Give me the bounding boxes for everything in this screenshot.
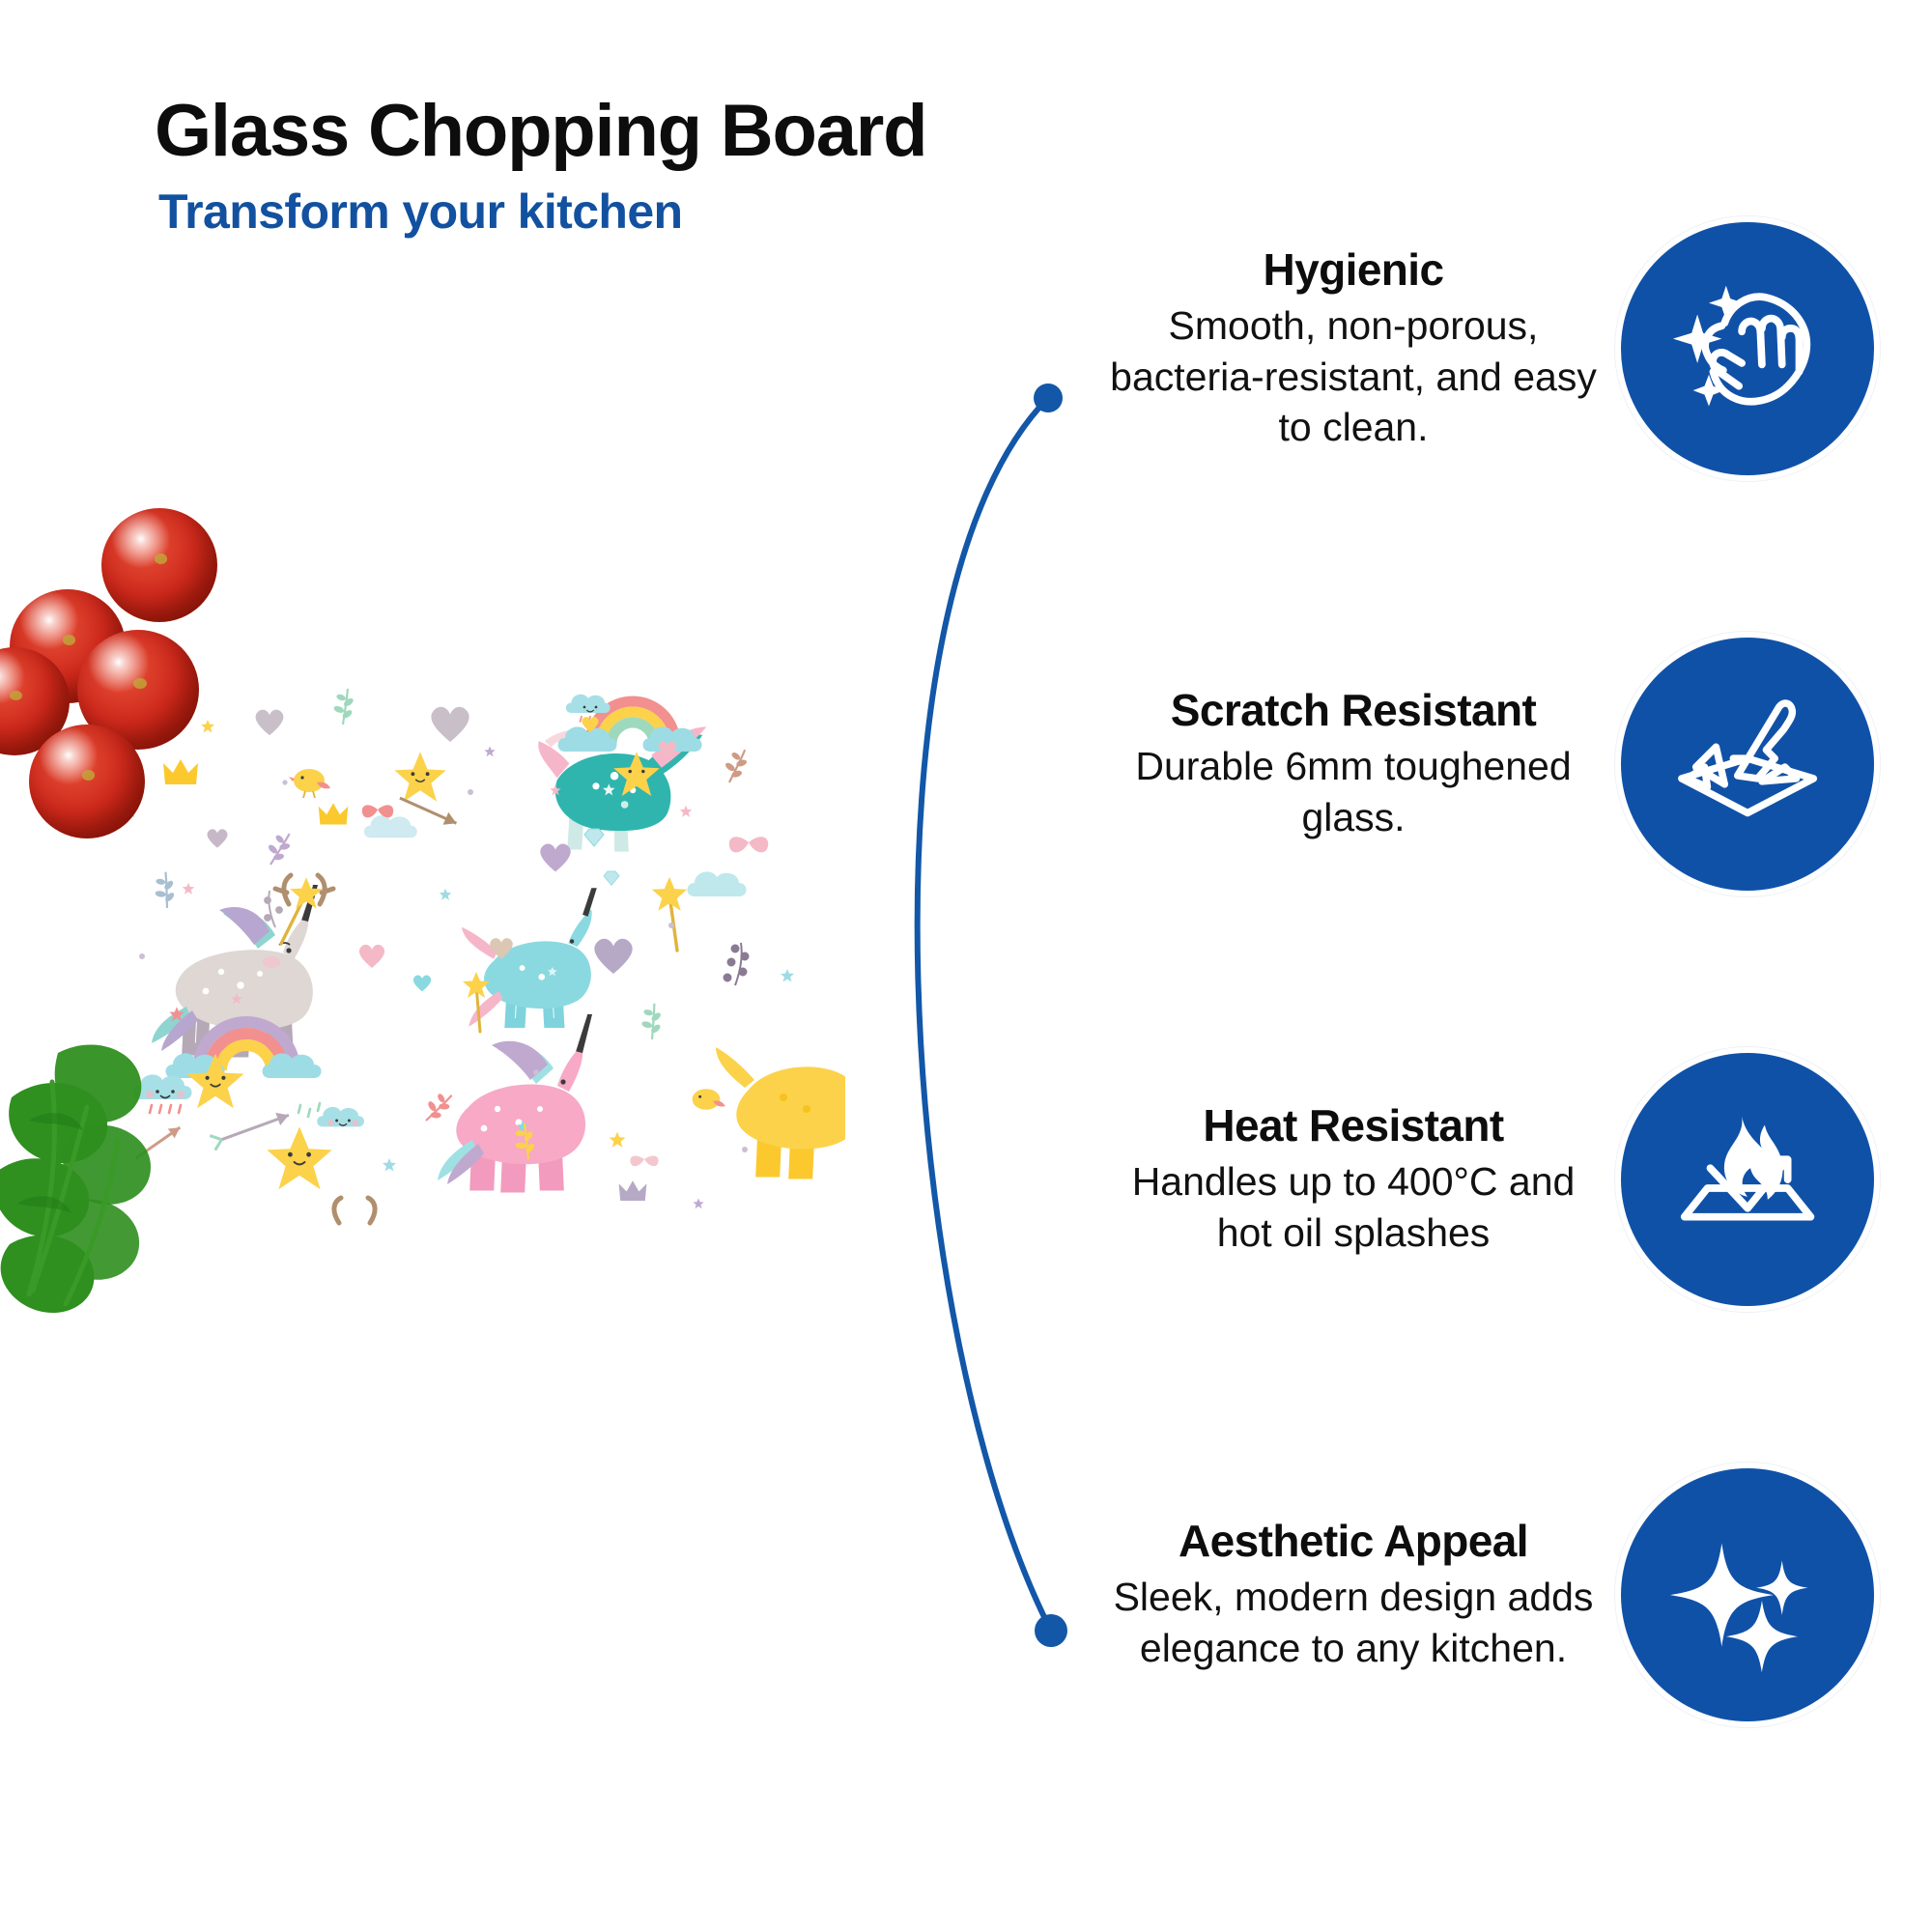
feature-text: Aesthetic Appeal Sleek, modern design ad…: [1109, 1517, 1621, 1673]
feature-description: Sleek, modern design adds elegance to an…: [1109, 1572, 1598, 1673]
parsley-garnish: [0, 1014, 309, 1333]
tomato-2: [101, 508, 217, 622]
feature-scratch-resistant: Scratch Resistant Durable 6mm toughened …: [1043, 638, 1874, 891]
sparkles-icon: [1621, 1468, 1874, 1721]
feature-text: Hygienic Smooth, non-porous, bacteria-re…: [1109, 245, 1621, 453]
knife-impact-surface-icon: [1621, 638, 1874, 891]
feature-heat-resistant: Heat Resistant Handles up to 400°C and h…: [1043, 1053, 1874, 1306]
feature-text: Scratch Resistant Durable 6mm toughened …: [1109, 686, 1621, 842]
feature-description: Durable 6mm toughened glass.: [1109, 741, 1598, 842]
feature-description: Smooth, non-porous, bacteria-resistant, …: [1109, 300, 1598, 452]
feature-text: Heat Resistant Handles up to 400°C and h…: [1109, 1101, 1621, 1258]
tomato-5: [29, 724, 145, 838]
feature-aesthetic-appeal: Aesthetic Appeal Sleek, modern design ad…: [1043, 1468, 1874, 1721]
feature-title: Aesthetic Appeal: [1109, 1517, 1598, 1567]
feature-title: Hygienic: [1109, 245, 1598, 296]
feature-title: Heat Resistant: [1109, 1101, 1598, 1151]
header: Glass Chopping Board Transform your kitc…: [155, 93, 1217, 239]
feature-description: Handles up to 400°C and hot oil splashes: [1109, 1156, 1598, 1258]
page-title: Glass Chopping Board: [155, 93, 1217, 170]
flame-deflect-surface-icon: [1621, 1053, 1874, 1306]
feature-hygienic: Hygienic Smooth, non-porous, bacteria-re…: [1043, 222, 1874, 475]
feature-title: Scratch Resistant: [1109, 686, 1598, 736]
hand-wipe-sparkle-icon: [1621, 222, 1874, 475]
